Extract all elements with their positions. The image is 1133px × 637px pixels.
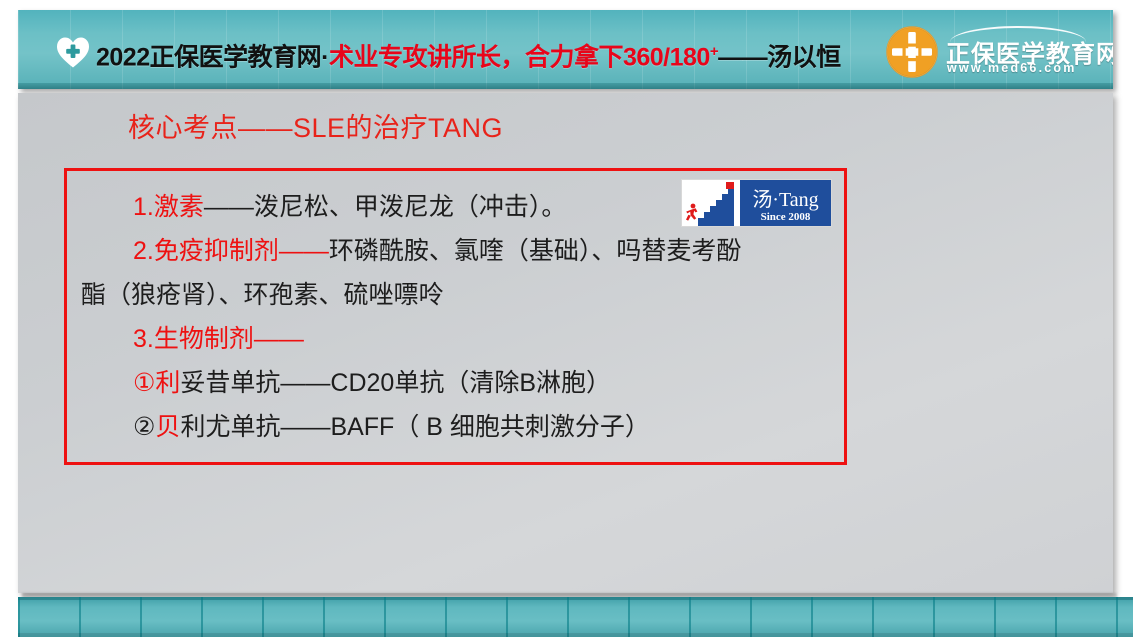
line-6-seg-1: ② <box>133 413 155 441</box>
line-6-seg-3: 利尤单抗——BAFF（ B 细胞共刺激分子） <box>180 413 649 441</box>
line-2-seg-2: 环磷酰胺、氯喹（基础）、吗替麦考酚 <box>329 237 742 265</box>
slide-root: 2022正保医学教育网·术业专攻讲所长，合力拿下360/180+——汤以恒 正保… <box>0 0 1133 637</box>
line-5-seg-1: ①利 <box>133 369 180 397</box>
content-lines: 1.激素——泼尼松、甲泼尼龙（冲击）。 2.免疫抑制剂——环磷酰胺、氯喹（基础）… <box>67 185 844 449</box>
line-1-seg-1: 1.激素 <box>133 193 204 221</box>
footer-banner <box>18 597 1133 637</box>
header-title-suffix: ——汤以恒 <box>718 43 841 71</box>
line-5-seg-2: 妥昔单抗——CD20单抗（清除B淋胞） <box>180 369 611 397</box>
line-6-seg-2: 贝 <box>155 413 180 441</box>
content-line-6: ②贝利尤单抗——BAFF（ B 细胞共刺激分子） <box>81 405 832 449</box>
brand-text: 正保医学教育网 www.med66.com <box>946 26 1088 78</box>
content-panel: 核心考点——SLE的治疗TANG <box>18 93 1113 593</box>
brand-logo: 正保医学教育网 www.med66.com <box>885 24 1093 80</box>
line-2-seg-1: 2.免疫抑制剂—— <box>133 237 329 265</box>
header-bottom-strip <box>18 83 1113 89</box>
page-title: 核心考点——SLE的治疗TANG <box>128 106 503 145</box>
content-line-1: 1.激素——泼尼松、甲泼尼龙（冲击）。 <box>81 185 832 229</box>
header-title-highlight: 术业专攻讲所长，合力拿下360/180 <box>329 43 710 71</box>
footer-bottom-shadow <box>18 633 1133 637</box>
header-banner: 2022正保医学教育网·术业专攻讲所长，合力拿下360/180+——汤以恒 正保… <box>18 10 1113 89</box>
cross-circle-logo-icon <box>885 25 939 79</box>
content-box: 汤·Tang Since 2008 1.激素——泼尼松、甲泼尼龙（冲击）。 2.… <box>64 168 847 465</box>
heart-plus-icon <box>56 36 90 69</box>
header-title: 2022正保医学教育网·术业专攻讲所长，合力拿下360/180+——汤以恒 <box>96 44 841 70</box>
footer-grid-pattern <box>18 597 1133 637</box>
content-line-3: 酯（狼疮肾）、环孢素、硫唑嘌呤 <box>81 273 832 317</box>
content-line-5: ①利妥昔单抗——CD20单抗（清除B淋胞） <box>81 361 832 405</box>
line-4-seg-1: 3.生物制剂—— <box>133 325 304 353</box>
header-title-prefix: 2022正保医学教育网· <box>96 43 329 71</box>
content-line-2: 2.免疫抑制剂——环磷酰胺、氯喹（基础）、吗替麦考酚 <box>81 229 832 273</box>
content-line-4: 3.生物制剂—— <box>81 317 832 361</box>
line-3-seg-1: 酯（狼疮肾）、环孢素、硫唑嘌呤 <box>81 281 444 309</box>
header-title-superscript: + <box>710 43 718 60</box>
footer-top-line <box>18 597 1133 600</box>
line-1-seg-2: ——泼尼松、甲泼尼龙（冲击）。 <box>204 193 567 221</box>
brand-url: www.med66.com <box>947 61 1077 75</box>
